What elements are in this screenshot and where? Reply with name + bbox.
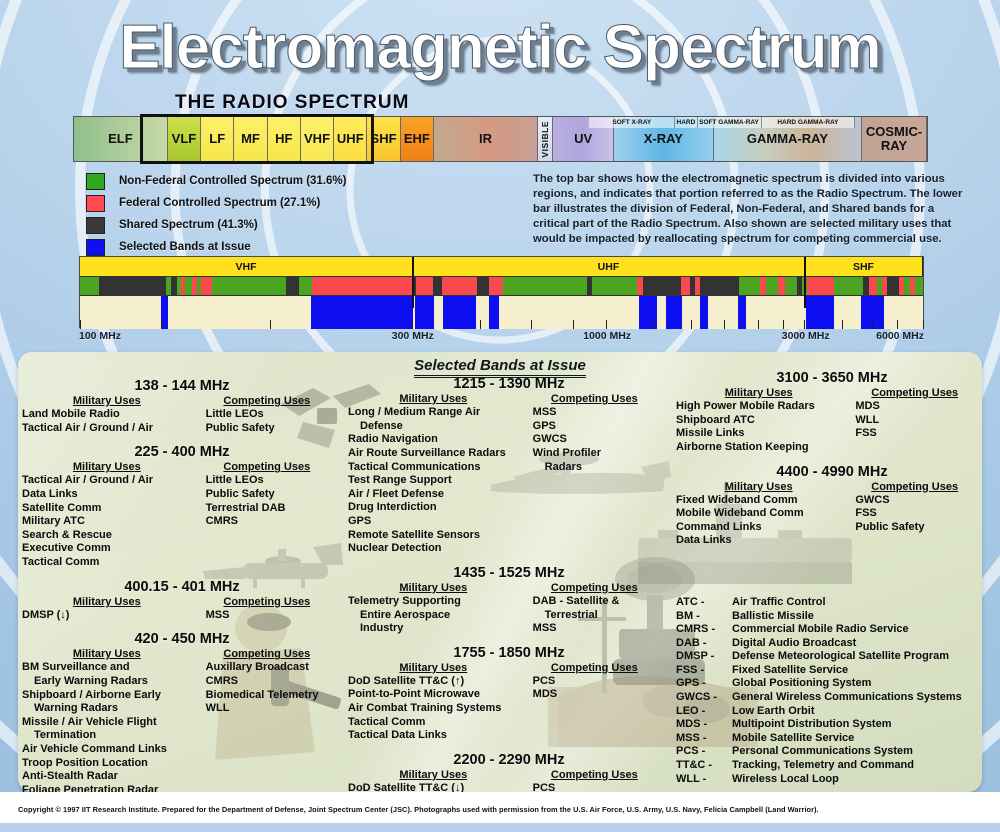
glossary-definition: Commercial Mobile Radio Service	[732, 623, 909, 637]
glossary-abbreviation: FSS -	[676, 664, 732, 678]
glossary-abbreviation: PCS -	[676, 745, 732, 759]
selected-band-marker	[666, 296, 682, 329]
military-use-item: DoD Satellite TT&C (↑)	[348, 675, 519, 689]
bands-column-left: 138 - 144 MHzMilitary UsesLand Mobile Ra…	[22, 378, 342, 807]
competing-use-item: MDS	[841, 400, 988, 414]
allocation-block-dark	[887, 277, 899, 295]
glossary-abbreviation: TT&C -	[676, 759, 732, 773]
em-band-label: ELF	[108, 132, 133, 146]
military-use-item: Termination	[22, 729, 192, 743]
legend-row: Federal Controlled Spectrum (27.1%)	[86, 194, 346, 212]
competing-use-item: MSS	[519, 622, 670, 636]
axis-tick	[872, 320, 873, 329]
military-uses-header: Military Uses	[22, 395, 192, 407]
axis-tick	[531, 320, 532, 329]
competing-use-item: MSS	[192, 609, 342, 623]
military-use-item: Search & Rescue	[22, 529, 192, 543]
axis-tick	[161, 320, 162, 329]
axis-tick	[80, 320, 81, 329]
chart-band-header-shf: SHF	[805, 257, 923, 276]
glossary-abbreviation: DMSP -	[676, 650, 732, 664]
glossary-row: GPS -Global Positioning System	[676, 677, 962, 691]
axis-tick	[923, 320, 924, 329]
competing-uses-column: Competing UsesLittle LEOsPublic Safety	[192, 395, 342, 435]
military-use-item: Telemetry Supporting	[348, 595, 519, 609]
radio-spectrum-subtitle: THE RADIO SPECTRUM	[175, 92, 409, 114]
military-use-item: BM Surveillance and	[22, 661, 192, 675]
competing-use-item: CMRS	[192, 675, 342, 689]
competing-uses-header: Competing Uses	[192, 648, 342, 660]
chart-frequency-axis: 100 MHz300 MHz1000 MHz3000 MHz6000 MHz	[79, 330, 924, 346]
glossary-abbreviation: CMRS -	[676, 623, 732, 637]
competing-use-item: Public Safety	[192, 422, 342, 436]
glossary-row: MSS -Mobile Satellite Service	[676, 732, 962, 746]
acronym-glossary: ATC -Air Traffic ControlBM -Ballistic Mi…	[676, 596, 962, 786]
chart-divider	[412, 257, 414, 308]
selected-band-marker	[489, 296, 499, 329]
em-band-label: MF	[241, 132, 260, 146]
legend-label: Selected Bands at Issue	[119, 241, 251, 253]
legend-swatch-icon	[86, 195, 105, 212]
band-block: 4400 - 4990 MHzMilitary UsesFixed Wideba…	[676, 464, 988, 549]
glossary-definition: Global Positioning System	[732, 677, 871, 691]
allocation-block-red	[489, 277, 503, 295]
band-frequency-range: 1435 - 1525 MHz	[348, 565, 670, 581]
glossary-definition: Tracking, Telemetry and Command	[732, 759, 914, 773]
glossary-abbreviation: BM -	[676, 610, 732, 624]
military-use-item: Fixed Wideband Comm	[676, 494, 841, 508]
glossary-row: WLL -Wireless Local Loop	[676, 773, 962, 787]
legend-label: Non-Federal Controlled Spectrum (31.6%)	[119, 175, 346, 187]
band-block: 1755 - 1850 MHzMilitary UsesDoD Satellit…	[348, 645, 670, 743]
military-use-item: Data Links	[676, 534, 841, 548]
axis-tick	[412, 320, 413, 329]
band-uses-columns: Military UsesDMSP (↓)Competing UsesMSS	[22, 596, 342, 623]
selected-bands-heading-text: Selected Bands at Issue	[414, 357, 586, 378]
competing-use-item: WLL	[841, 414, 988, 428]
military-use-item: Anti-Stealth Radar	[22, 770, 192, 784]
glossary-definition: Defense Meteorological Satellite Program	[732, 650, 949, 664]
allocation-block-dark	[643, 277, 681, 295]
military-use-item: Air Route Surveillance Radars	[348, 447, 519, 461]
band-frequency-range: 2200 - 2290 MHz	[348, 752, 670, 768]
chart-band-headers: VHFUHFSHF	[80, 257, 923, 277]
allocation-block-green	[80, 277, 99, 295]
band-frequency-range: 420 - 450 MHz	[22, 631, 342, 647]
military-uses-header: Military Uses	[676, 481, 841, 493]
military-use-item: Troop Position Location	[22, 757, 192, 771]
military-use-item: Drug Interdiction	[348, 501, 519, 515]
glossary-definition: Wireless Local Loop	[732, 773, 839, 787]
em-band-label: COSMIC-RAY	[862, 125, 926, 152]
competing-uses-column: Competing UsesDAB - Satellite &Terrestri…	[519, 582, 670, 636]
allocation-block-dark	[477, 277, 489, 295]
em-subband-row: SOFT X-RAYHARDSOFT GAMMA-RAYHARD GAMMA-R…	[74, 117, 927, 128]
band-block: 420 - 450 MHzMilitary UsesBM Surveillanc…	[22, 631, 342, 797]
em-band-label: HF	[275, 132, 292, 146]
competing-uses-column: Competing UsesLittle LEOsPublic SafetyTe…	[192, 461, 342, 569]
legend-swatch-icon	[86, 239, 105, 256]
allocation-block-dark	[99, 277, 166, 295]
military-use-item: Tactical Data Links	[348, 729, 519, 743]
axis-tick	[573, 320, 574, 329]
glossary-row: CMRS -Commercial Mobile Radio Service	[676, 623, 962, 637]
competing-use-item: Terrestrial	[519, 609, 670, 623]
military-uses-header: Military Uses	[22, 596, 192, 608]
em-band-label: UHF	[337, 132, 364, 146]
glossary-definition: Fixed Satellite Service	[732, 664, 848, 678]
military-use-item: Military ATC	[22, 515, 192, 529]
military-use-item: Land Mobile Radio	[22, 408, 192, 422]
military-uses-column: Military UsesTactical Air / Ground / Air…	[22, 461, 192, 569]
military-use-item: Industry	[348, 622, 519, 636]
selected-band-marker	[806, 296, 834, 329]
competing-use-item: Public Safety	[192, 488, 342, 502]
competing-use-item: GPS	[519, 420, 670, 434]
band-uses-columns: Military UsesLand Mobile RadioTactical A…	[22, 395, 342, 435]
axis-tick	[606, 320, 607, 329]
military-use-item: Tactical Air / Ground / Air	[22, 422, 192, 436]
glossary-definition: Multipoint Distribution System	[732, 718, 892, 732]
axis-tick	[842, 320, 843, 329]
competing-use-item: Public Safety	[841, 521, 988, 535]
allocation-block-green	[185, 277, 192, 295]
chart-band-header-uhf: UHF	[413, 257, 805, 276]
em-band-label: X-RAY	[644, 132, 683, 146]
band-block: 400.15 - 401 MHzMilitary UsesDMSP (↓)Com…	[22, 579, 342, 623]
axis-tick	[653, 320, 654, 329]
competing-uses-column: Competing UsesPCSMDS	[519, 662, 670, 743]
allocation-block-red	[312, 277, 413, 295]
axis-tick	[897, 320, 898, 329]
military-uses-column: Military UsesHigh Power Mobile RadarsShi…	[676, 387, 841, 455]
glossary-row: DMSP -Defense Meteorological Satellite P…	[676, 650, 962, 664]
competing-use-item: Wind Profiler	[519, 447, 670, 461]
military-use-item: Nuclear Detection	[348, 542, 519, 556]
competing-uses-column: Competing UsesGWCSFSSPublic Safety	[841, 481, 988, 549]
competing-use-item: GWCS	[519, 433, 670, 447]
em-band-label: LF	[209, 132, 225, 146]
competing-use-item: Auxillary Broadcast	[192, 661, 342, 675]
glossary-abbreviation: LEO -	[676, 705, 732, 719]
em-band-label: VLF	[172, 132, 197, 146]
glossary-row: LEO -Low Earth Orbit	[676, 705, 962, 719]
allocation-block-green	[834, 277, 863, 295]
allocation-block-red	[681, 277, 690, 295]
em-band-label: UV	[574, 132, 592, 146]
axis-tick	[270, 320, 271, 329]
military-use-item: Air Vehicle Command Links	[22, 743, 192, 757]
competing-uses-header: Competing Uses	[841, 481, 988, 493]
chart-selected-bands-row	[80, 296, 923, 329]
competing-use-item: FSS	[841, 427, 988, 441]
competing-use-item: Little LEOs	[192, 408, 342, 422]
axis-tick	[804, 320, 805, 329]
band-uses-columns: Military UsesTactical Air / Ground / Air…	[22, 461, 342, 569]
military-use-item: Defense	[348, 420, 519, 434]
glossary-abbreviation: GWCS -	[676, 691, 732, 705]
allocation-block-red	[416, 277, 434, 295]
military-use-item: Command Links	[676, 521, 841, 535]
competing-use-item: GWCS	[841, 494, 988, 508]
competing-uses-header: Competing Uses	[519, 582, 670, 594]
copyright-text: Copyright © 1997 IIT Research Institute.…	[18, 805, 819, 814]
legend-row: Shared Spectrum (41.3%)	[86, 216, 346, 234]
competing-use-item: Little LEOs	[192, 474, 342, 488]
glossary-row: MDS -Multipoint Distribution System	[676, 718, 962, 732]
military-use-item: GPS	[348, 515, 519, 529]
band-frequency-range: 4400 - 4990 MHz	[676, 464, 988, 480]
band-uses-columns: Military UsesDoD Satellite TT&C (↑)Point…	[348, 662, 670, 743]
selected-band-marker	[738, 296, 746, 329]
band-block: 225 - 400 MHzMilitary UsesTactical Air /…	[22, 444, 342, 569]
band-frequency-range: 1755 - 1850 MHz	[348, 645, 670, 661]
glossary-abbreviation: MSS -	[676, 732, 732, 746]
allocation-block-green	[915, 277, 923, 295]
axis-label: 6000 MHz	[876, 330, 924, 342]
glossary-definition: Personal Communications System	[732, 745, 913, 759]
military-use-item: Early Warning Radars	[22, 675, 192, 689]
em-band-label: SHF	[371, 132, 397, 146]
competing-use-item: WLL	[192, 702, 342, 716]
military-use-item: Warning Radars	[22, 702, 192, 716]
selected-band-marker	[415, 296, 434, 329]
military-use-item: Tactical Communications	[348, 461, 519, 475]
military-use-item: Shipboard / Airborne Early	[22, 689, 192, 703]
band-frequency-range: 225 - 400 MHz	[22, 444, 342, 460]
glossary-row: FSS -Fixed Satellite Service	[676, 664, 962, 678]
chart-divider	[804, 257, 806, 308]
competing-uses-header: Competing Uses	[519, 769, 670, 781]
glossary-definition: Ballistic Missile	[732, 610, 814, 624]
competing-use-item: PCS	[519, 675, 670, 689]
military-use-item: Airborne Station Keeping	[676, 441, 841, 455]
band-frequency-range: 400.15 - 401 MHz	[22, 579, 342, 595]
axis-tick	[724, 320, 725, 329]
military-use-item: Entire Aerospace	[348, 609, 519, 623]
military-use-item: Tactical Air / Ground / Air	[22, 474, 192, 488]
glossary-definition: Air Traffic Control	[732, 596, 826, 610]
em-subband-hard-gamma-ray: HARD GAMMA-RAY	[762, 117, 856, 128]
allocation-block-green	[503, 277, 587, 295]
competing-uses-column: Competing UsesMSSGPSGWCSWind ProfilerRad…	[519, 393, 670, 556]
competing-use-item: CMRS	[192, 515, 342, 529]
military-use-item: Air Combat Training Systems	[348, 702, 519, 716]
band-uses-columns: Military UsesHigh Power Mobile RadarsShi…	[676, 387, 988, 455]
military-use-item: Point-to-Point Microwave	[348, 688, 519, 702]
military-use-item: Missile Links	[676, 427, 841, 441]
military-use-item: Radio Navigation	[348, 433, 519, 447]
glossary-definition: Low Earth Orbit	[732, 705, 815, 719]
military-use-item: Data Links	[22, 488, 192, 502]
competing-uses-column: Competing UsesAuxillary BroadcastCMRSBio…	[192, 648, 342, 797]
military-use-item: Air / Fleet Defense	[348, 488, 519, 502]
competing-use-item: FSS	[841, 507, 988, 521]
allocation-block-dark	[700, 277, 739, 295]
legend-row: Selected Bands at Issue	[86, 238, 346, 256]
military-uses-header: Military Uses	[348, 769, 519, 781]
allocation-block-dark	[286, 277, 299, 295]
glossary-abbreviation: ATC -	[676, 596, 732, 610]
glossary-abbreviation: DAB -	[676, 637, 732, 651]
military-use-item: Long / Medium Range Air	[348, 406, 519, 420]
military-uses-column: Military UsesFixed Wideband CommMobile W…	[676, 481, 841, 549]
glossary-abbreviation: WLL -	[676, 773, 732, 787]
glossary-definition: General Wireless Communications Systems	[732, 691, 962, 705]
competing-uses-header: Competing Uses	[841, 387, 988, 399]
legend-swatch-icon	[86, 217, 105, 234]
military-use-item: Test Range Support	[348, 474, 519, 488]
allocation-block-green	[785, 277, 797, 295]
military-uses-column: Military UsesLong / Medium Range AirDefe…	[348, 393, 519, 556]
radio-spectrum-detail-chart: VHFUHFSHF	[79, 256, 924, 328]
competing-uses-header: Competing Uses	[192, 395, 342, 407]
chart-band-header-vhf: VHF	[80, 257, 413, 276]
band-frequency-range: 3100 - 3650 MHz	[676, 370, 988, 386]
axis-tick	[783, 320, 784, 329]
band-uses-columns: Military UsesTelemetry SupportingEntire …	[348, 582, 670, 636]
axis-label: 300 MHz	[392, 330, 434, 342]
glossary-row: TT&C -Tracking, Telemetry and Command	[676, 759, 962, 773]
axis-tick	[691, 320, 692, 329]
glossary-definition: Digital Audio Broadcast	[732, 637, 856, 651]
band-block: 138 - 144 MHzMilitary UsesLand Mobile Ra…	[22, 378, 342, 435]
em-subband-hard: HARD	[675, 117, 697, 128]
em-band-label: GAMMA-RAY	[747, 132, 828, 146]
military-use-item: Tactical Comm	[22, 556, 192, 570]
em-band-label: VHF	[304, 132, 330, 146]
military-uses-column: Military UsesDoD Satellite TT&C (↑)Point…	[348, 662, 519, 743]
military-use-item: Remote Satellite Sensors	[348, 529, 519, 543]
bands-column-middle: 1215 - 1390 MHzMilitary UsesLong / Mediu…	[348, 376, 670, 832]
legend-swatch-icon	[86, 173, 105, 190]
allocation-block-dark	[433, 277, 442, 295]
military-use-item: Tactical Comm	[348, 716, 519, 730]
competing-use-item: Biomedical Telemetry	[192, 689, 342, 703]
allocation-block-green	[212, 277, 286, 295]
competing-uses-column: Competing UsesMDSWLLFSS	[841, 387, 988, 455]
military-uses-header: Military Uses	[22, 461, 192, 473]
electromagnetic-spectrum-bar: ELFVLFLFMFHFVHFUHFSHFEHFIRVISIBLEUVX-RAY…	[73, 116, 928, 162]
em-subband-soft-x-ray: SOFT X-RAY	[589, 117, 675, 128]
military-uses-column: Military UsesTelemetry SupportingEntire …	[348, 582, 519, 636]
page-title: Electromagnetic Spectrum	[0, 12, 1000, 83]
competing-uses-header: Competing Uses	[519, 393, 670, 405]
axis-tick	[480, 320, 481, 329]
em-band-label: IR	[479, 132, 492, 146]
glossary-row: BM -Ballistic Missile	[676, 610, 962, 624]
chart-allocation-row	[80, 277, 923, 296]
competing-uses-header: Competing Uses	[192, 461, 342, 473]
competing-use-item: MSS	[519, 406, 670, 420]
band-block: 1215 - 1390 MHzMilitary UsesLong / Mediu…	[348, 376, 670, 556]
axis-label: 3000 MHz	[782, 330, 830, 342]
allocation-block-red	[807, 277, 835, 295]
spectrum-legend: Non-Federal Controlled Spectrum (31.6%)F…	[86, 172, 346, 260]
military-use-item: Mobile Wideband Comm	[676, 507, 841, 521]
band-uses-columns: Military UsesBM Surveillance andEarly Wa…	[22, 648, 342, 797]
description-text: The top bar shows how the electromagneti…	[533, 172, 965, 247]
military-use-item: Missile / Air Vehicle Flight	[22, 716, 192, 730]
axis-label: 1000 MHz	[583, 330, 631, 342]
glossary-abbreviation: GPS -	[676, 677, 732, 691]
glossary-definition: Mobile Satellite Service	[732, 732, 854, 746]
legend-label: Shared Spectrum (41.3%)	[119, 219, 258, 231]
axis-tick	[758, 320, 759, 329]
military-uses-column: Military UsesDMSP (↓)	[22, 596, 192, 623]
band-frequency-range: 1215 - 1390 MHz	[348, 376, 670, 392]
glossary-row: GWCS -General Wireless Communications Sy…	[676, 691, 962, 705]
military-use-item: Executive Comm	[22, 542, 192, 556]
allocation-block-red	[869, 277, 877, 295]
competing-uses-header: Competing Uses	[519, 662, 670, 674]
competing-use-item: Terrestrial DAB	[192, 502, 342, 516]
military-use-item: Shipboard ATC	[676, 414, 841, 428]
em-subband-soft-gamma-ray: SOFT GAMMA-RAY	[698, 117, 762, 128]
military-uses-column: Military UsesBM Surveillance andEarly Wa…	[22, 648, 192, 797]
selected-band-marker	[443, 296, 476, 329]
military-uses-header: Military Uses	[348, 582, 519, 594]
band-frequency-range: 138 - 144 MHz	[22, 378, 342, 394]
competing-use-item: MDS	[519, 688, 670, 702]
em-band-label: EHF	[404, 132, 430, 146]
military-uses-header: Military Uses	[348, 662, 519, 674]
military-use-item: DMSP (↓)	[22, 609, 192, 623]
selected-band-marker	[639, 296, 658, 329]
competing-use-item: DAB - Satellite &	[519, 595, 670, 609]
allocation-block-green	[766, 277, 778, 295]
allocation-block-red	[778, 277, 785, 295]
allocation-block-red	[201, 277, 211, 295]
band-uses-columns: Military UsesFixed Wideband CommMobile W…	[676, 481, 988, 549]
legend-label: Federal Controlled Spectrum (27.1%)	[119, 197, 320, 209]
band-block: 3100 - 3650 MHzMilitary UsesHigh Power M…	[676, 370, 988, 455]
military-use-item: Satellite Comm	[22, 502, 192, 516]
glossary-row: PCS -Personal Communications System	[676, 745, 962, 759]
military-uses-column: Military UsesLand Mobile RadioTactical A…	[22, 395, 192, 435]
competing-uses-column: Competing UsesMSS	[192, 596, 342, 623]
military-use-item: High Power Mobile Radars	[676, 400, 841, 414]
glossary-abbreviation: MDS -	[676, 718, 732, 732]
band-uses-columns: Military UsesLong / Medium Range AirDefe…	[348, 393, 670, 556]
competing-use-item: Radars	[519, 461, 670, 475]
band-block: 1435 - 1525 MHzMilitary UsesTelemetry Su…	[348, 565, 670, 636]
military-uses-header: Military Uses	[676, 387, 841, 399]
allocation-block-red	[442, 277, 477, 295]
selected-band-marker	[311, 296, 413, 329]
military-uses-header: Military Uses	[22, 648, 192, 660]
legend-row: Non-Federal Controlled Spectrum (31.6%)	[86, 172, 346, 190]
axis-label: 100 MHz	[79, 330, 121, 342]
bands-column-right: 3100 - 3650 MHzMilitary UsesHigh Power M…	[676, 370, 988, 557]
glossary-row: ATC -Air Traffic Control	[676, 596, 962, 610]
allocation-block-green	[299, 277, 312, 295]
allocation-block-green	[592, 277, 638, 295]
selected-band-marker	[700, 296, 708, 329]
glossary-row: DAB -Digital Audio Broadcast	[676, 637, 962, 651]
military-uses-header: Military Uses	[348, 393, 519, 405]
competing-uses-header: Competing Uses	[192, 596, 342, 608]
allocation-block-green	[739, 277, 760, 295]
